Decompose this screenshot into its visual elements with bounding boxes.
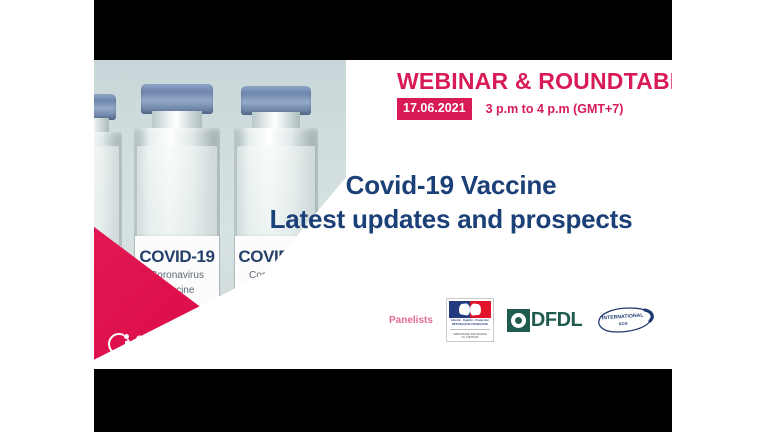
- panelists-row: Panelists Liberté · Égalité · Fraternité…: [389, 298, 657, 342]
- headline-line-2: Latest updates and prospects: [244, 202, 658, 236]
- date-badge: 17.06.2021: [397, 98, 472, 120]
- france-motto-line1: Liberté · Égalité · Fraternité: [451, 319, 489, 322]
- france-motto-line2: RÉPUBLIQUE FRANÇAISE: [452, 323, 488, 326]
- webinar-header: WEBINAR & ROUNDTABLE 17.06.2021 3 p.m to…: [397, 68, 672, 120]
- letterbox-bar-bottom: [94, 369, 672, 432]
- marianne-blue-half: [449, 301, 470, 318]
- embassy-of-france-in-vietnam-logo: Liberté · Égalité · Fraternité RÉPUBLIQU…: [446, 298, 494, 342]
- cci-dot-shape: [124, 334, 129, 339]
- cci-france-vietnam-logo: CCI FRANCE VIETNAM: [108, 333, 194, 355]
- panelists-label: Panelists: [389, 315, 433, 326]
- cci-bar-shape: [125, 341, 128, 350]
- divider: [450, 329, 490, 330]
- embassy-sub-line2: AU VIETNAM: [461, 336, 478, 339]
- video-frame: COVID-19 Coronavirus Vaccine COVID-19 Co…: [0, 0, 768, 432]
- international-sos-logo: INTERNATIONAL SOS: [595, 306, 657, 334]
- cci-wordmark-line2: VIETNAM: [136, 344, 194, 355]
- cci-wordmark: CCI FRANCE VIETNAM: [136, 334, 194, 355]
- marianne-icon: [449, 301, 491, 318]
- dfdl-wordmark: DFDL: [531, 310, 582, 330]
- dfdl-logo: DFDL: [507, 309, 582, 332]
- headline-line-1: Covid-19 Vaccine: [244, 168, 658, 202]
- dfdl-ring-icon: [507, 309, 530, 332]
- presentation-slide: COVID-19 Coronavirus Vaccine COVID-19 Co…: [94, 60, 672, 369]
- letterbox-bar-top: [94, 0, 672, 60]
- webinar-meta-row: 17.06.2021 3 p.m to 4 p.m (GMT+7): [397, 98, 672, 120]
- marianne-red-half: [470, 301, 491, 318]
- page-gutter-left: [0, 0, 94, 432]
- page-gutter-right: [672, 0, 768, 432]
- time-text: 3 p.m to 4 p.m (GMT+7): [486, 102, 624, 116]
- dfdl-donut-shape: [511, 313, 526, 328]
- webinar-title: WEBINAR & ROUNDTABLE: [397, 68, 672, 94]
- cci-wordmark-line1: CCI FRANCE: [136, 334, 194, 345]
- slide-headline: Covid-19 Vaccine Latest updates and pros…: [244, 168, 658, 236]
- cci-monogram-icon: [108, 333, 130, 355]
